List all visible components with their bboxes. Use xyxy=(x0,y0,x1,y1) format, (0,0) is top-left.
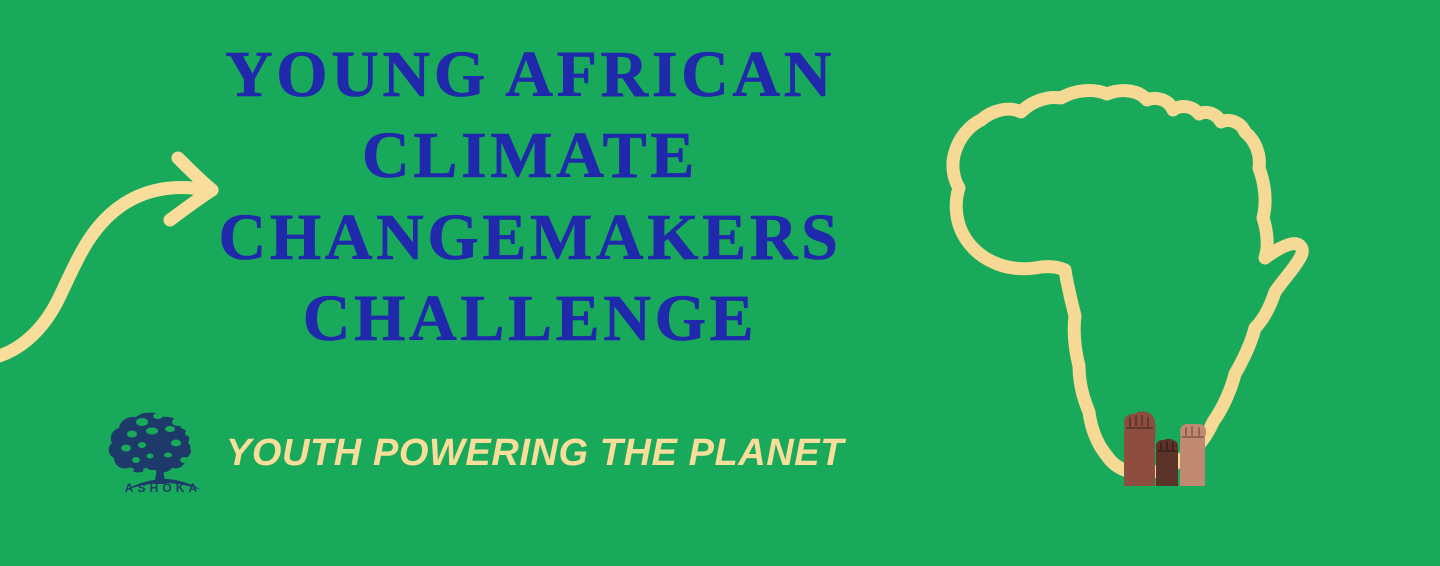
raised-fists-icon xyxy=(1110,388,1220,498)
title-line-2: CLIMATE xyxy=(205,123,855,188)
ashoka-wordmark: ASHOKA xyxy=(106,481,220,495)
fist-middle xyxy=(1156,439,1178,486)
title-line-3: CHANGEMAKERS xyxy=(205,205,855,270)
fist-right xyxy=(1180,424,1206,486)
tagline: YOUTH POWERING THE PLANET xyxy=(205,432,865,475)
title-line-4: CHALLENGE xyxy=(205,286,855,351)
fist-left xyxy=(1124,411,1156,486)
page-title: YOUNG AFRICAN CLIMATE CHANGEMAKERS CHALL… xyxy=(205,42,855,353)
title-line-1: YOUNG AFRICAN xyxy=(205,42,855,107)
campaign-banner: YOUNG AFRICAN CLIMATE CHANGEMAKERS CHALL… xyxy=(0,0,1440,566)
